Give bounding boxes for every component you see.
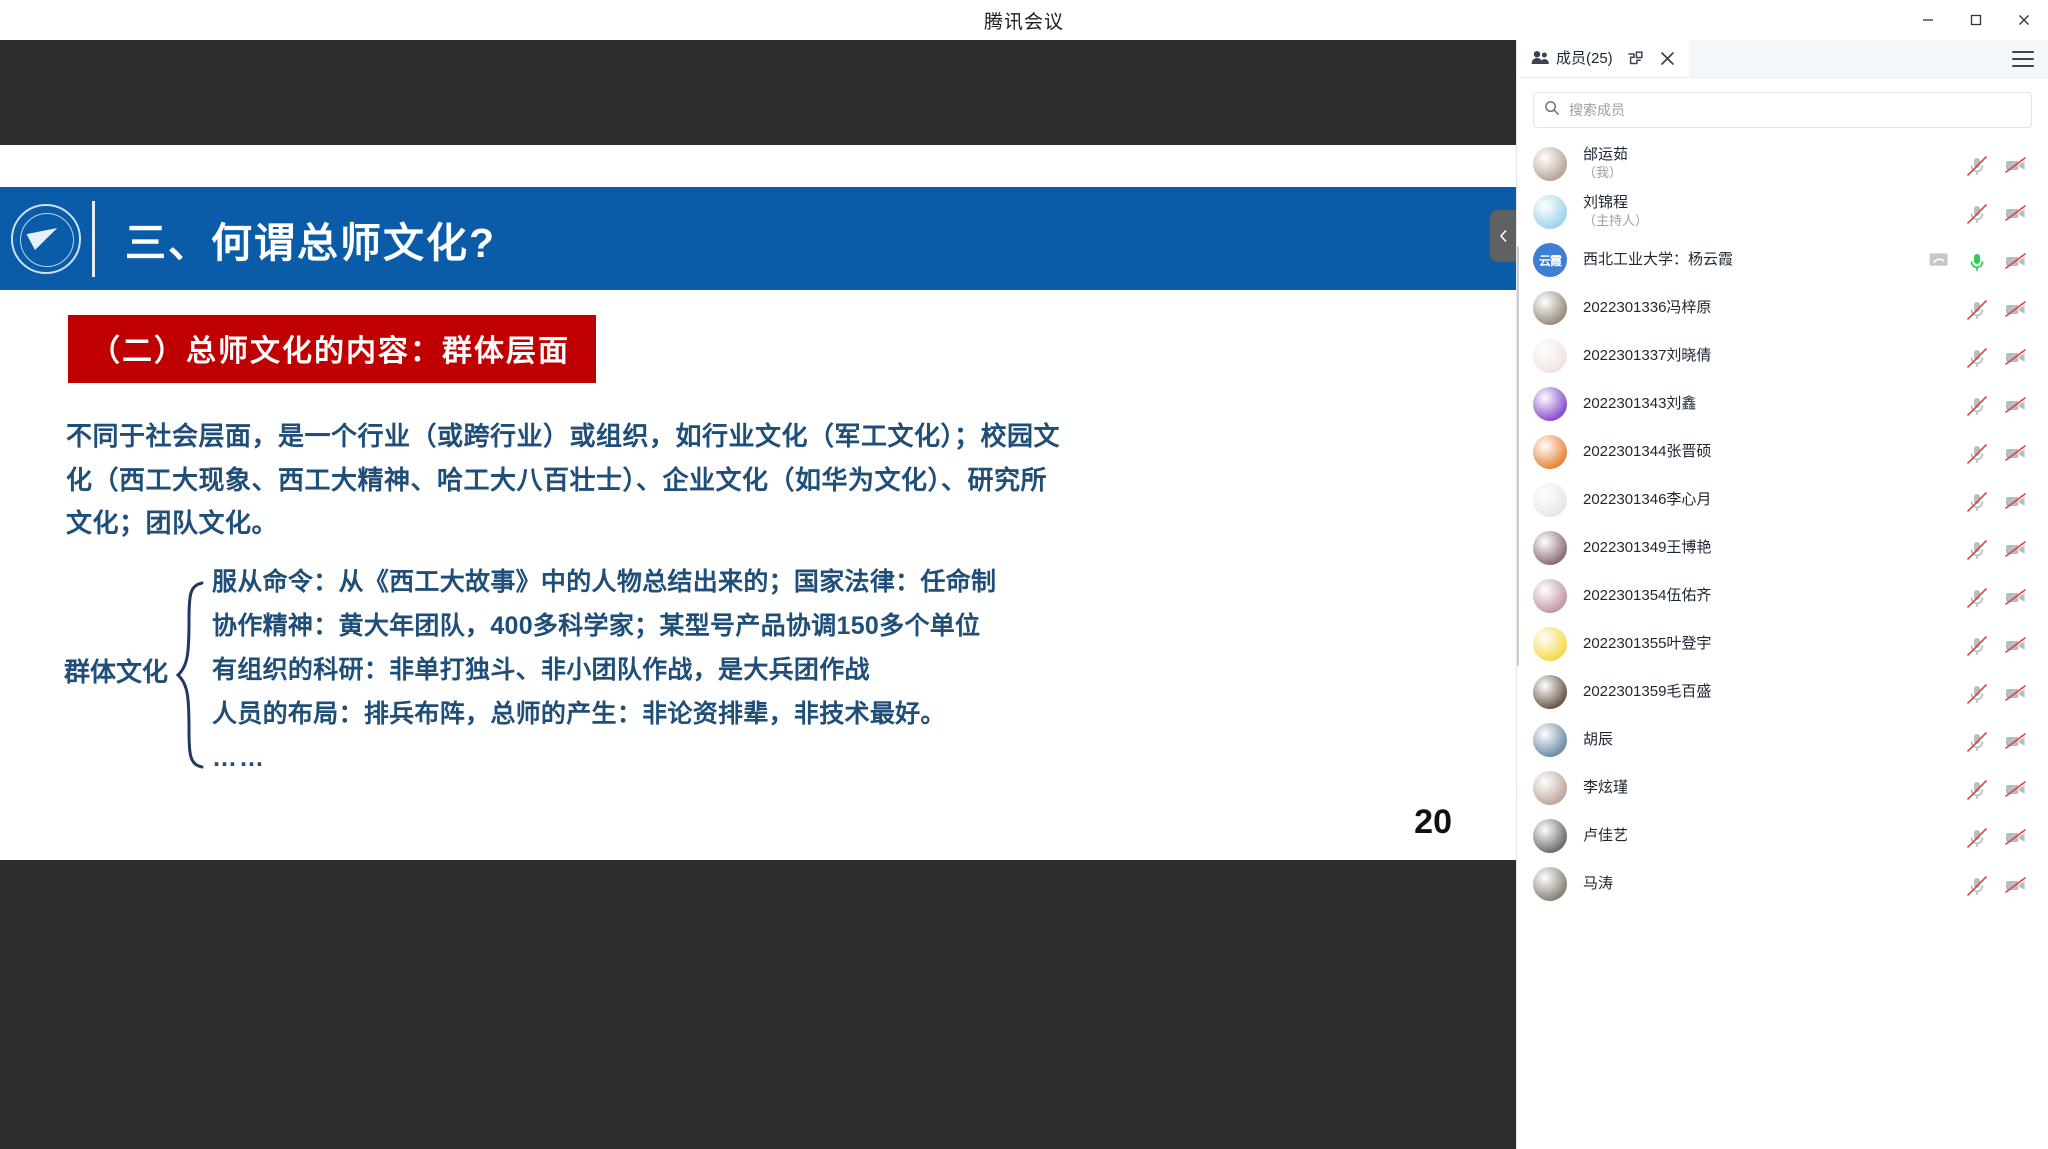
participant-status-icons — [1956, 683, 2026, 701]
avatar — [1533, 627, 1567, 661]
participant-name-block: 2022301355叶登宇 — [1567, 635, 1956, 652]
hamburger-icon[interactable] — [2012, 51, 2034, 67]
camera-off-icon[interactable] — [2004, 395, 2026, 413]
participant-row[interactable]: 2022301359毛百盛 — [1517, 668, 2048, 716]
minimize-button[interactable] — [1904, 0, 1952, 40]
camera-off-icon[interactable] — [2004, 155, 2026, 173]
participant-name: 卢佳艺 — [1583, 827, 1956, 844]
participant-status-icons — [1956, 875, 2026, 893]
participant-name-block: 西北工业大学：杨云霞 — [1567, 251, 1918, 268]
participant-name: 马涛 — [1583, 875, 1956, 892]
shared-screen-stage: 三、何谓总师文化? （二）总师文化的内容：群体层面 不同于社会层面，是一个行业（… — [0, 40, 1516, 1149]
npu-emblem-icon — [11, 204, 81, 274]
participant-name-block: 2022301344张晋硕 — [1567, 443, 1956, 460]
microphone-muted-icon[interactable] — [1966, 347, 1988, 365]
microphone-muted-icon[interactable] — [1966, 299, 1988, 317]
participant-role: （我） — [1583, 165, 1956, 182]
participant-name-block: 李炫瑾 — [1567, 779, 1956, 796]
slide-paragraph: 不同于社会层面，是一个行业（或跨行业）或组织，如行业文化（军工文化）；校园文化（… — [66, 415, 1066, 546]
camera-off-icon[interactable] — [2004, 875, 2026, 893]
participant-list[interactable]: 邰运茹（我）刘锦程（主持人）云霞西北工业大学：杨云霞2022301336冯梓原2… — [1517, 138, 2048, 1149]
avatar — [1533, 723, 1567, 757]
popout-icon[interactable] — [1627, 50, 1645, 68]
participant-name-block: 2022301349王博艳 — [1567, 539, 1956, 556]
slide-page-number: 20 — [1414, 803, 1452, 842]
tab-members-label: 成员(25) — [1556, 47, 1613, 68]
avatar — [1533, 147, 1567, 181]
member-search-box[interactable] — [1533, 92, 2032, 128]
minimize-icon — [1921, 13, 1935, 27]
camera-off-icon[interactable] — [2004, 491, 2026, 509]
participant-name: 2022301337刘晓倩 — [1583, 347, 1956, 364]
microphone-on-icon[interactable] — [1966, 251, 1988, 269]
camera-off-icon[interactable] — [2004, 203, 2026, 221]
microphone-muted-icon[interactable] — [1966, 539, 1988, 557]
participant-status-icons — [1956, 827, 2026, 845]
participant-row[interactable]: 邰运茹（我） — [1517, 140, 2048, 188]
panel-collapse-handle[interactable] — [1490, 210, 1516, 262]
participant-row[interactable]: 胡辰 — [1517, 716, 2048, 764]
participant-status-icons — [1956, 491, 2026, 509]
participant-status-icons — [1956, 779, 2026, 797]
avatar-initials: 云霞 — [1533, 243, 1567, 277]
panel-tab-filler — [1689, 40, 2048, 77]
avatar — [1533, 819, 1567, 853]
participant-row[interactable]: 刘锦程（主持人） — [1517, 188, 2048, 236]
app-title: 腾讯会议 — [984, 7, 1064, 34]
participant-row[interactable]: 2022301349王博艳 — [1517, 524, 2048, 572]
participant-name-block: 2022301336冯梓原 — [1567, 299, 1956, 316]
tab-members[interactable]: 成员(25) — [1517, 40, 1627, 77]
camera-off-icon[interactable] — [2004, 635, 2026, 653]
camera-off-icon[interactable] — [2004, 683, 2026, 701]
microphone-muted-icon[interactable] — [1966, 203, 1988, 221]
camera-off-icon[interactable] — [2004, 347, 2026, 365]
participant-status-icons — [1956, 203, 2026, 221]
participant-name-block: 胡辰 — [1567, 731, 1956, 748]
participant-status-icons — [1956, 443, 2026, 461]
participant-name-block: 马涛 — [1567, 875, 1956, 892]
camera-off-icon[interactable] — [2004, 299, 2026, 317]
participant-name: 李炫瑾 — [1583, 779, 1956, 796]
participant-name: 2022301336冯梓原 — [1583, 299, 1956, 316]
brace-item-ellipsis: …… — [212, 736, 1144, 780]
participant-name: 2022301346李心月 — [1583, 491, 1956, 508]
microphone-muted-icon[interactable] — [1966, 395, 1988, 413]
participant-status-icons — [1956, 539, 2026, 557]
microphone-muted-icon[interactable] — [1966, 827, 1988, 845]
participant-name: 邰运茹 — [1583, 146, 1956, 163]
avatar — [1533, 771, 1567, 805]
window-titlebar: 腾讯会议 — [0, 0, 2048, 40]
slide-title: 三、何谓总师文化? — [95, 209, 496, 269]
participant-status-icons — [1956, 731, 2026, 749]
camera-off-icon[interactable] — [2004, 779, 2026, 797]
slide-brace-block: 群体文化 服从命令：从《西工大故事》中的人物总结出来的；国家法律：任命制 协作精… — [64, 560, 1144, 780]
avatar — [1533, 675, 1567, 709]
participant-name-block: 刘锦程（主持人） — [1567, 194, 1956, 229]
screen-share-icon — [1928, 251, 1950, 269]
avatar — [1533, 483, 1567, 517]
brace-item: 有组织的科研：非单打独斗、非小团队作战，是大兵团作战 — [212, 648, 1144, 692]
participant-name-block: 2022301343刘鑫 — [1567, 395, 1956, 412]
participant-row[interactable]: 2022301337刘晓倩 — [1517, 332, 2048, 380]
maximize-icon — [1969, 13, 1983, 27]
camera-off-icon[interactable] — [2004, 827, 2026, 845]
close-button[interactable] — [2000, 0, 2048, 40]
participant-status-icons — [1956, 299, 2026, 317]
microphone-muted-icon[interactable] — [1966, 587, 1988, 605]
participant-name-block: 2022301359毛百盛 — [1567, 683, 1956, 700]
microphone-muted-icon[interactable] — [1966, 683, 1988, 701]
participant-row[interactable]: 云霞西北工业大学：杨云霞 — [1517, 236, 2048, 284]
curly-brace-icon — [174, 580, 204, 760]
maximize-button[interactable] — [1952, 0, 2000, 40]
participant-name: 2022301344张晋硕 — [1583, 443, 1956, 460]
participant-name-block: 卢佳艺 — [1567, 827, 1956, 844]
microphone-muted-icon[interactable] — [1966, 155, 1988, 173]
participant-name: 2022301349王博艳 — [1583, 539, 1956, 556]
panel-tab-actions — [1627, 40, 1689, 77]
microphone-muted-icon[interactable] — [1966, 779, 1988, 797]
people-icon — [1531, 49, 1549, 67]
participant-name: 西北工业大学：杨云霞 — [1583, 251, 1918, 268]
avatar — [1533, 387, 1567, 421]
participant-name-block: 邰运茹（我） — [1567, 146, 1956, 181]
avatar — [1533, 579, 1567, 613]
participant-row[interactable]: 卢佳艺 — [1517, 812, 2048, 860]
participant-name-block: 2022301354伍佑齐 — [1567, 587, 1956, 604]
slide-section-banner: （二）总师文化的内容：群体层面 — [68, 315, 596, 383]
participant-name-block: 2022301337刘晓倩 — [1567, 347, 1956, 364]
participant-status-icons — [1918, 251, 2026, 269]
participant-status-icons — [1956, 635, 2026, 653]
participant-status-icons — [1956, 347, 2026, 365]
brace-item: 协作精神：黄大年团队，400多科学家；某型号产品协调150多个单位 — [212, 604, 1144, 648]
participant-row[interactable]: 马涛 — [1517, 860, 2048, 908]
participant-row[interactable]: 2022301344张晋硕 — [1517, 428, 2048, 476]
participant-name: 2022301359毛百盛 — [1583, 683, 1956, 700]
brace-label: 群体文化 — [64, 652, 174, 689]
avatar — [1533, 339, 1567, 373]
participant-row[interactable]: 2022301354伍佑齐 — [1517, 572, 2048, 620]
avatar — [1533, 867, 1567, 901]
camera-off-icon[interactable] — [2004, 443, 2026, 461]
camera-off-icon[interactable] — [2004, 731, 2026, 749]
avatar — [1533, 435, 1567, 469]
search-icon — [1544, 100, 1560, 121]
participant-row[interactable]: 李炫瑾 — [1517, 764, 2048, 812]
presentation-slide: 三、何谓总师文化? （二）总师文化的内容：群体层面 不同于社会层面，是一个行业（… — [0, 145, 1516, 860]
participant-name: 刘锦程 — [1583, 194, 1956, 211]
participant-status-icons — [1956, 155, 2026, 173]
university-logo — [0, 187, 92, 290]
panel-tab-bar: 成员(25) — [1517, 40, 2048, 78]
tencent-meeting-window: 腾讯会议 三、何谓总师文化? （二）总师文化的内容：群体层面 — [0, 0, 2048, 1149]
participant-name: 2022301354伍佑齐 — [1583, 587, 1956, 604]
brace-item-list: 服从命令：从《西工大故事》中的人物总结出来的；国家法律：任命制 协作精神：黄大年… — [204, 560, 1144, 780]
participant-role: （主持人） — [1583, 213, 1956, 230]
avatar — [1533, 291, 1567, 325]
close-icon — [2017, 13, 2031, 27]
participant-row[interactable]: 2022301343刘鑫 — [1517, 380, 2048, 428]
avatar — [1533, 195, 1567, 229]
participant-status-icons — [1956, 587, 2026, 605]
microphone-muted-icon[interactable] — [1966, 491, 1988, 509]
chevron-left-icon — [1499, 229, 1508, 243]
microphone-muted-icon[interactable] — [1966, 635, 1988, 653]
participant-row[interactable]: 2022301336冯梓原 — [1517, 284, 2048, 332]
participant-name: 2022301343刘鑫 — [1583, 395, 1956, 412]
brace-item: 服从命令：从《西工大故事》中的人物总结出来的；国家法律：任命制 — [212, 560, 1144, 604]
participant-name-block: 2022301346李心月 — [1567, 491, 1956, 508]
avatar — [1533, 531, 1567, 565]
participant-status-icons — [1956, 395, 2026, 413]
participant-name: 胡辰 — [1583, 731, 1956, 748]
member-search-area — [1517, 78, 2048, 138]
participant-row[interactable]: 2022301346李心月 — [1517, 476, 2048, 524]
camera-off-icon[interactable] — [2004, 587, 2026, 605]
camera-off-icon[interactable] — [2004, 539, 2026, 557]
members-panel: 成员(25) — [1516, 40, 2048, 1149]
microphone-muted-icon[interactable] — [1966, 875, 1988, 893]
camera-off-icon[interactable] — [2004, 251, 2026, 269]
slide-header-band: 三、何谓总师文化? — [0, 187, 1516, 290]
microphone-muted-icon[interactable] — [1966, 443, 1988, 461]
close-panel-icon[interactable] — [1659, 50, 1677, 68]
window-controls — [1904, 0, 2048, 40]
microphone-muted-icon[interactable] — [1966, 731, 1988, 749]
participant-name: 2022301355叶登宇 — [1583, 635, 1956, 652]
participant-row[interactable]: 2022301355叶登宇 — [1517, 620, 2048, 668]
search-input[interactable] — [1569, 102, 2021, 118]
brace-item: 人员的布局：排兵布阵，总师的产生：非论资排辈，非技术最好。 — [212, 692, 1144, 736]
